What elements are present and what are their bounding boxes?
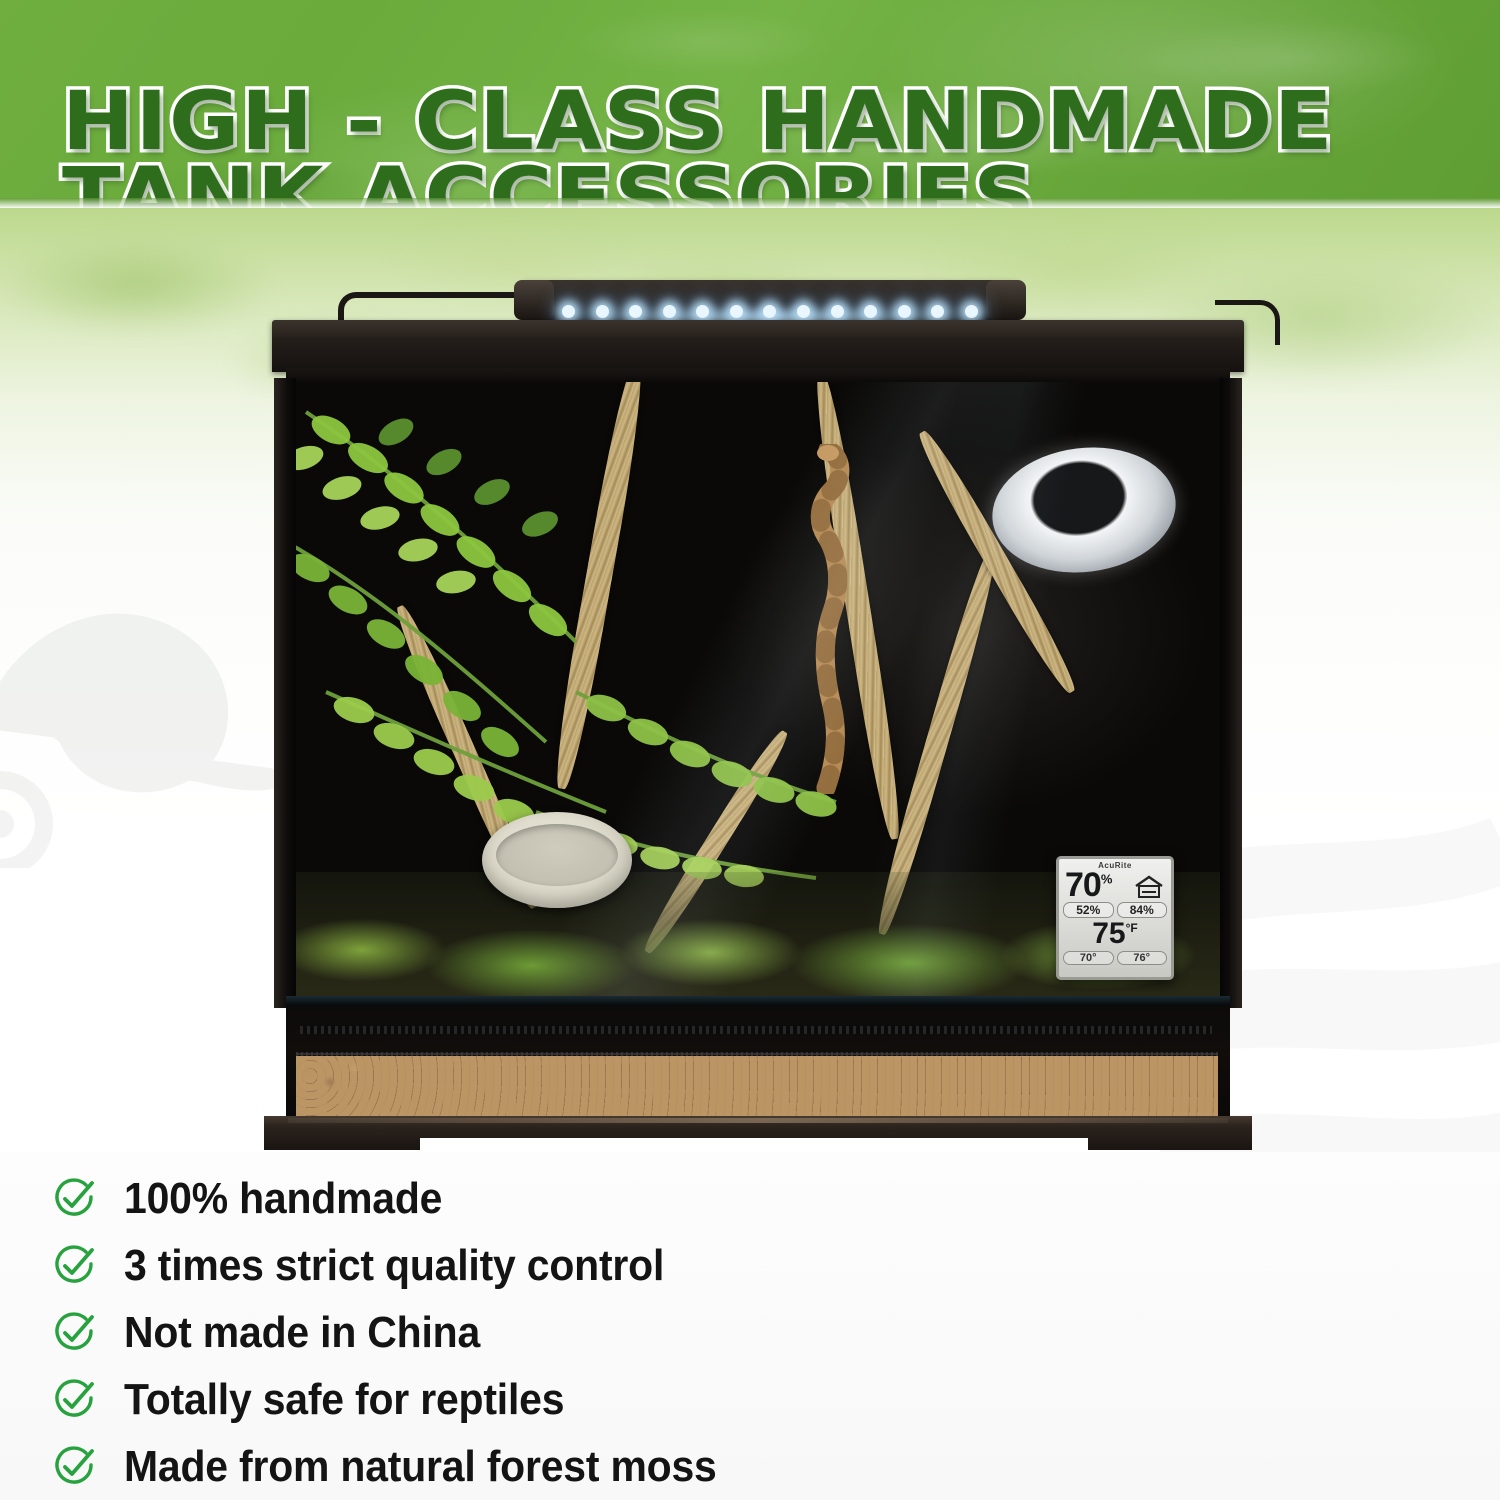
house-icon [1134, 875, 1164, 899]
header-banner: HIGH - CLASS HANDMADE TANK ACCESSORIES [0, 0, 1500, 208]
drainage-compartment [286, 1006, 1230, 1118]
product-infographic: HIGH - CLASS HANDMADE TANK ACCESSORIES [0, 0, 1500, 1500]
terrarium-frame-divider [286, 996, 1230, 1006]
humidity-max: 84% [1117, 902, 1168, 918]
feature-item: Totally safe for reptiles [52, 1371, 597, 1429]
terrarium-glass-panel: AcuRite 70% 52% 84% [286, 382, 1230, 1002]
check-circle-icon [52, 1444, 98, 1490]
feature-list: 100% handmade3 times strict quality cont… [0, 1152, 1500, 1500]
hero-photo: AcuRite 70% 52% 84% [0, 208, 1500, 1160]
led-lamp [864, 305, 877, 318]
page-title: HIGH - CLASS HANDMADE TANK ACCESSORIES [62, 10, 1419, 208]
terrarium-base-notch [420, 1138, 1088, 1152]
led-lamp [831, 305, 844, 318]
temperature-min: 70° [1063, 951, 1114, 965]
led-lamp [596, 305, 609, 318]
humidity-unit: % [1101, 872, 1112, 887]
humidity-min: 52% [1063, 902, 1114, 918]
terrarium-frame-right [1220, 378, 1242, 1008]
led-lamp [562, 305, 575, 318]
led-lamp [629, 305, 642, 318]
feature-label: Totally safe for reptiles [124, 1375, 564, 1425]
leca-clay-ball-layer [296, 1056, 1218, 1116]
temperature-max: 76° [1117, 951, 1168, 965]
feature-item: 100% handmade [52, 1170, 466, 1228]
feature-label: 100% handmade [124, 1174, 442, 1224]
check-circle-icon [52, 1176, 98, 1222]
led-bar-end-cap-right [986, 280, 1026, 320]
water-bowl [482, 812, 632, 908]
led-lamp [763, 305, 776, 318]
chameleon-watermark-icon [0, 538, 300, 868]
humidity-value: 70 [1065, 866, 1101, 904]
check-circle-icon [52, 1310, 98, 1356]
led-lamp [730, 305, 743, 318]
check-circle-icon [52, 1377, 98, 1423]
led-lamp [898, 305, 911, 318]
feature-item: 3 times strict quality control [52, 1237, 705, 1295]
humidity-min-max: 52% 84% [1059, 902, 1171, 918]
led-bar-end-cap-left [514, 280, 554, 320]
terrarium-hood-lip [286, 368, 1230, 382]
temperature-reading: 75°F [1059, 919, 1171, 949]
led-light-bar [520, 280, 1020, 320]
temperature-unit: °F [1126, 921, 1138, 935]
temperature-min-max: 70° 76° [1059, 951, 1171, 965]
terrarium-hood [272, 320, 1244, 372]
banner-bottom-fade [0, 198, 1500, 208]
led-lamp [965, 305, 978, 318]
terrarium-interior: AcuRite 70% 52% 84% [286, 382, 1230, 1002]
terrarium: AcuRite 70% 52% 84% [258, 270, 1258, 1150]
feature-label: Made from natural forest moss [124, 1442, 717, 1492]
led-lamp [931, 305, 944, 318]
led-lamp [797, 305, 810, 318]
ventilation-strip [300, 1026, 1212, 1034]
led-lamp [663, 305, 676, 318]
feature-label: Not made in China [124, 1308, 480, 1358]
thermometer-hygrometer[interactable]: AcuRite 70% 52% 84% [1056, 856, 1174, 980]
feature-item: Not made in China [52, 1304, 507, 1362]
check-circle-icon [52, 1243, 98, 1289]
temperature-value: 75 [1092, 917, 1125, 950]
feature-item: Made from natural forest moss [52, 1438, 761, 1496]
feature-label: 3 times strict quality control [124, 1241, 664, 1291]
terrarium-base-highlight [288, 1118, 1228, 1123]
led-lamp-row [562, 303, 978, 319]
terrarium-frame-left [274, 378, 296, 1008]
led-lamp [696, 305, 709, 318]
